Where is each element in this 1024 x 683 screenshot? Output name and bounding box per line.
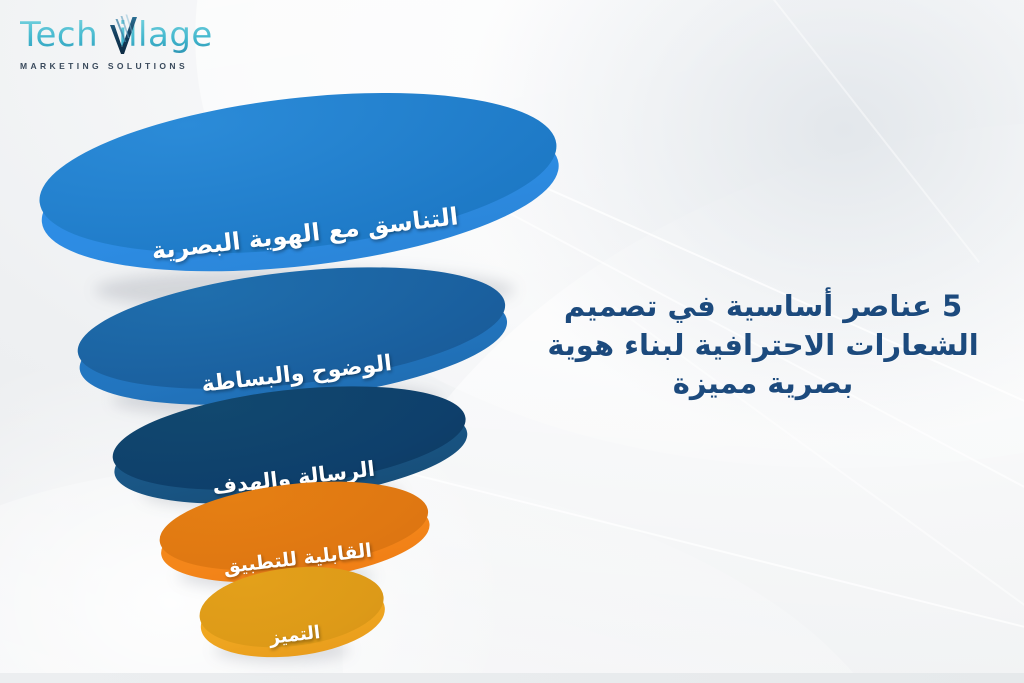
funnel-layer-5-cylinder [195, 558, 389, 672]
funnel-chart: التناسق مع الهوية البصرية الوضوح والبساط… [0, 0, 600, 683]
funnel-layer-5[interactable]: التميز [195, 558, 389, 672]
infographic-canvas: Techillage MARKETING SOLUTIONS 5 عناصر أ… [0, 0, 1024, 683]
